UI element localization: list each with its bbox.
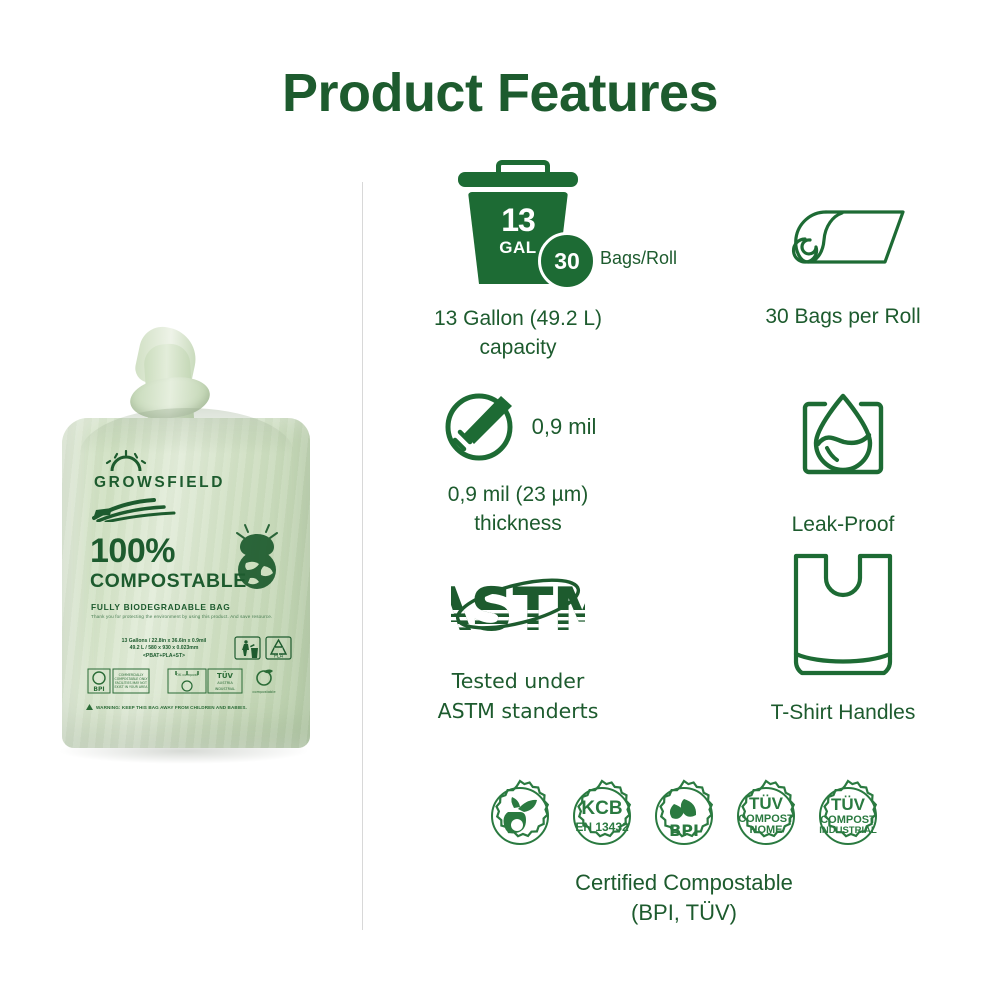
svg-text:TÜV: TÜV (217, 671, 233, 680)
feature-capacity-caption: 13 Gallon (49.2 L) capacity (368, 304, 668, 362)
t-shirt-bag-icon (782, 550, 904, 680)
feature-astm-caption: Tested under ASTM standerts (368, 666, 668, 726)
sprout-icon (502, 796, 540, 836)
feature-thickness-caption: 0,9 mil (23 µm) thickness (368, 480, 668, 538)
bag-warning: WARNING: KEEP THIS BAG AWAY FROM CHILDRE… (86, 704, 298, 710)
badge-line-1: KCB (581, 799, 622, 819)
pla-recycle-icon (271, 640, 286, 654)
feature-tshirt-handles: T-Shirt Handles (686, 550, 1000, 727)
bag-roll-icon (780, 188, 906, 274)
caliper-icon (440, 388, 518, 466)
tuv-industrial-badge-text: TÜV COMPOST INDUSTRIAL (810, 778, 886, 854)
bpi-badge-text: BPI (669, 821, 699, 840)
bag-certification-marks: BPI COMMERCIALLY COMPOSTABLE ONLY FACILI… (86, 666, 292, 696)
caption-line-1: Leak-Proof (686, 510, 1000, 539)
leaves-icon (670, 799, 696, 819)
sunrise-icon (104, 450, 148, 472)
caption-line-2: capacity (368, 333, 668, 362)
badge-line-1: TÜV (749, 795, 783, 813)
caption-line-1: 0,9 mil (23 µm) (368, 480, 668, 509)
trash-can-lid (458, 172, 578, 187)
caption-line-2: ASTM standerts (368, 696, 668, 726)
seedling-badge (482, 778, 558, 854)
svg-text:EXIST IN YOUR AREA: EXIST IN YOUR AREA (115, 685, 149, 689)
svg-text:compostable: compostable (252, 690, 276, 694)
badge-line-3: HOME (750, 825, 783, 837)
product-image: GROWSFIELD 100% COMPOSTABLE (18, 300, 348, 770)
svg-text:AUSTRIA: AUSTRIA (217, 681, 233, 685)
feature-astm: ASTM ASTM Tested under (368, 560, 668, 726)
features-grid: 13 GAL 30 Bags/Roll 13 Gallon (49.2 L) c… (368, 150, 1000, 770)
compostable-label: COMPOSTABLE (90, 570, 247, 593)
tshirt-icon-wrap (686, 550, 1000, 680)
bags-per-roll-badge-label: Bags/Roll (600, 248, 677, 269)
feature-thickness: 0,9 mil 0,9 mil (23 µm) thickness (368, 388, 668, 538)
disposal-marks: PLA (234, 636, 292, 660)
svg-text:INDUSTRIAL: INDUSTRIAL (215, 687, 236, 691)
caption-line-1: 30 Bags per Roll (686, 302, 1000, 331)
capacity-number: 13 (468, 204, 568, 236)
caption-line-1: 13 Gallon (49.2 L) (368, 304, 668, 333)
infographic-page: Product Features GROWS (0, 0, 1000, 1000)
compost-percent: 100% (90, 532, 175, 571)
tidy-man-icon (242, 640, 258, 658)
fully-biodegradable-label: FULLY BIODEGRADABLE BAG (91, 602, 230, 612)
product-tagline: Thank you for protecting the environment… (91, 614, 272, 619)
certification-badges: KCB EN 13432 BPI TÜV COMPOST (368, 778, 1000, 854)
svg-text:BPI: BPI (93, 686, 104, 693)
tuv-home-badge: TÜV COMPOST HOME (728, 778, 804, 854)
feature-capacity: 13 GAL 30 Bags/Roll 13 Gallon (49.2 L) c… (368, 160, 668, 362)
bags-per-roll-badge: 30 (538, 232, 596, 290)
leak-proof-icon-wrap (686, 386, 1000, 490)
feature-leak-caption: Leak-Proof (686, 510, 1000, 539)
vertical-divider (362, 182, 363, 930)
product-specs: 13 Gallons / 22.8in x 36.6in x 0.9mil 49… (98, 638, 230, 660)
spec-line-2: 49.2 L / 580 x 930 x 0.023mm (98, 645, 230, 652)
thickness-icon-row: 0,9 mil (368, 388, 668, 466)
caption-line-1: Certified Compostable (368, 868, 1000, 898)
bag-roll-icon-wrap (686, 188, 1000, 274)
badge-line-3: INDUSTRIAL (819, 826, 877, 836)
trash-can-icon: 13 GAL 30 Bags/Roll (454, 160, 582, 284)
caption-line-2: thickness (368, 509, 668, 538)
feature-tshirt-caption: T-Shirt Handles (686, 698, 1000, 727)
astm-icon-wrap: ASTM ASTM (368, 560, 668, 652)
bpi-badge-frame: BPI (646, 778, 722, 854)
feature-roll-caption: 30 Bags per Roll (686, 302, 1000, 331)
caption-line-2: (BPI, TÜV) (368, 898, 1000, 928)
feature-leak-proof: Leak-Proof (686, 386, 1000, 539)
thickness-icon-label: 0,9 mil (532, 414, 597, 440)
spec-line-1: 13 Gallons / 22.8in x 36.6in x 0.9mil (98, 638, 230, 645)
badge-line-2: EN 13432 (575, 821, 628, 834)
water-droplet-icon (791, 386, 895, 490)
page-title: Product Features (0, 62, 1000, 124)
bag-gather (80, 408, 294, 454)
bag-warning-text: WARNING: KEEP THIS BAG AWAY FROM CHILDRE… (96, 705, 247, 710)
caption-line-1: T-Shirt Handles (686, 698, 1000, 727)
astm-logo-icon: ASTM ASTM (451, 560, 585, 652)
field-furrows-icon (92, 496, 188, 522)
feature-bags-per-roll: 30 Bags per Roll (686, 188, 1000, 331)
tuv-industrial-badge: TÜV COMPOST INDUSTRIAL (810, 778, 886, 854)
kcb-badge: KCB EN 13432 (564, 778, 640, 854)
tuv-home-badge-text: TÜV COMPOST HOME (728, 778, 804, 854)
kcb-badge-text: KCB EN 13432 (564, 778, 640, 854)
certification-caption: Certified Compostable (BPI, TÜV) (368, 868, 1000, 928)
spec-line-3: <PBAT+PLA+ST> (98, 653, 230, 660)
bag-print-area: GROWSFIELD 100% COMPOSTABLE (76, 450, 298, 740)
caption-line-1: Tested under (368, 666, 668, 696)
brand-name: GROWSFIELD (94, 474, 225, 492)
bpi-badge: BPI (646, 778, 722, 854)
warning-triangle-icon (86, 704, 93, 710)
svg-text:PLA: PLA (274, 654, 284, 660)
badge-line-1: TÜV (831, 796, 865, 814)
tree-globe-icon (226, 518, 288, 592)
